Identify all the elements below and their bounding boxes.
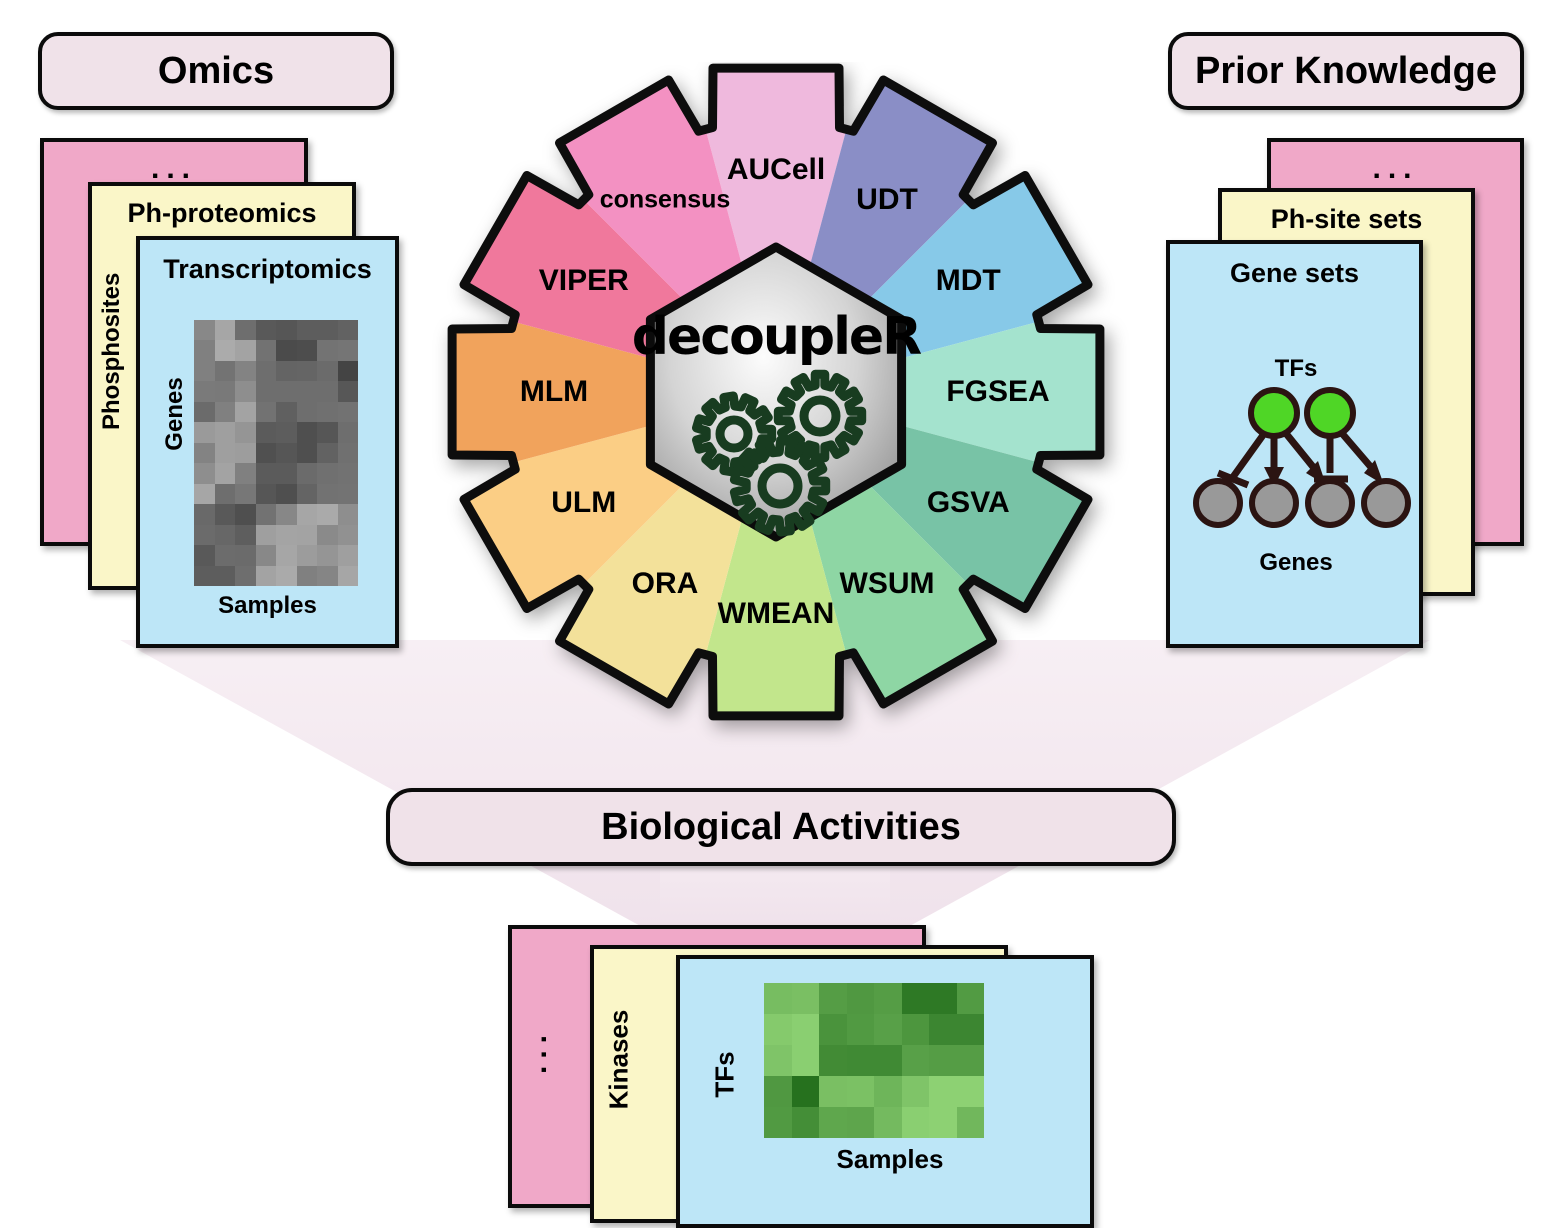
heatmap-cell [929,1045,957,1076]
gear-label-ora[interactable]: ORA [632,567,699,601]
heatmap-cell [902,1107,930,1138]
heatmap-cell [317,381,338,401]
heatmap-cell [338,504,359,524]
heatmap-cell [235,340,256,360]
heatmap-cell [215,422,236,442]
omics-sheet-phproteomics-label: Ph-proteomics [92,198,352,229]
heatmap-cell [764,1076,792,1107]
heatmap-cell [235,484,256,504]
heatmap-cell [256,484,277,504]
heatmap-cell [194,484,215,504]
heatmap-cell [317,402,338,422]
heatmap-cell [194,381,215,401]
heatmap-cell [276,545,297,565]
heatmap-cell [847,983,875,1014]
heatmap-cell [338,525,359,545]
tf-activity-heatmap [764,983,984,1138]
heatmap-cell [194,443,215,463]
heatmap-cell [338,422,359,442]
heatmap-cell [256,402,277,422]
heatmap-cell [194,422,215,442]
biological-activities-title-pill: Biological Activities [386,788,1176,866]
heatmap-cell [297,504,318,524]
heatmap-cell [297,545,318,565]
heatmap-cell [256,320,277,340]
heatmap-cell [215,463,236,483]
heatmap-cell [957,983,985,1014]
heatmap-cell [215,443,236,463]
heatmap-cell [215,545,236,565]
heatmap-cell [317,361,338,381]
heatmap-cell [764,983,792,1014]
heatmap-cell [215,361,236,381]
heatmap-cell [297,381,318,401]
heatmap-cell [235,402,256,422]
heatmap-cell [194,545,215,565]
heatmap-cell [317,320,338,340]
gear-label-viper[interactable]: VIPER [539,264,629,298]
tf-gene-network: TFs [1178,355,1414,585]
heatmap-cell [276,484,297,504]
heatmap-cell [194,320,215,340]
diagram-canvas: Omics ... Ph-proteomics Phosphosites Tra… [0,0,1551,1222]
gear-label-consensus[interactable]: consensus [600,185,731,214]
heatmap-cell [215,402,236,422]
gear-label-mdt[interactable]: MDT [936,264,1001,298]
gear-label-layer: AUCellUDTMDTFGSEAGSVAWSUMWMEANORAULMMLMV… [418,62,1134,762]
transcriptomics-heatmap [194,320,358,586]
gear-label-fgsea[interactable]: FGSEA [946,375,1049,409]
heatmap-cell [256,340,277,360]
heatmap-cell [235,361,256,381]
heatmap-cell [317,422,338,442]
heatmap-cell [792,1045,820,1076]
heatmap-cell [847,1076,875,1107]
output-axis-tfs: TFs [710,1040,741,1110]
heatmap-cell [297,525,318,545]
omics-axis-samples: Samples [140,592,395,620]
heatmap-cell [276,361,297,381]
heatmap-cell [338,463,359,483]
heatmap-cell [235,463,256,483]
heatmap-cell [874,1014,902,1045]
omics-title-pill: Omics [38,32,394,110]
heatmap-cell [256,361,277,381]
heatmap-cell [194,340,215,360]
heatmap-cell [819,1076,847,1107]
heatmap-cell [235,545,256,565]
biological-activities-title: Biological Activities [601,806,961,849]
heatmap-cell [235,443,256,463]
heatmap-cell [338,545,359,565]
heatmap-cell [256,443,277,463]
heatmap-cell [874,1107,902,1138]
heatmap-cell [338,402,359,422]
heatmap-cell [929,983,957,1014]
heatmap-cell [256,381,277,401]
heatmap-cell [847,1045,875,1076]
heatmap-cell [317,443,338,463]
heatmap-cell [338,443,359,463]
network-graph-svg [1178,381,1414,531]
heatmap-cell [874,1045,902,1076]
heatmap-cell [338,320,359,340]
heatmap-cell [764,1014,792,1045]
gear-label-mlm[interactable]: MLM [520,375,588,409]
heatmap-cell [297,402,318,422]
heatmap-cell [235,504,256,524]
heatmap-cell [792,1014,820,1045]
heatmap-cell [256,504,277,524]
heatmap-cell [215,525,236,545]
methods-gear-wheel: decoupleR AUCellUDTMDTFGSEAGSVAWSUMWMEAN… [418,62,1134,762]
heatmap-cell [297,422,318,442]
prior-knowledge-title: Prior Knowledge [1195,50,1497,93]
heatmap-cell [338,381,359,401]
output-sheet-tfs: TFs Samples [676,955,1094,1228]
heatmap-cell [819,1014,847,1045]
heatmap-cell [256,525,277,545]
heatmap-cell [235,320,256,340]
heatmap-cell [338,340,359,360]
network-genes-label: Genes [1178,549,1414,577]
output-axis-samples: Samples [740,1144,1040,1175]
heatmap-cell [215,484,236,504]
heatmap-cell [764,1107,792,1138]
gear-label-wsum[interactable]: WSUM [840,567,935,601]
heatmap-cell [256,566,277,586]
heatmap-cell [297,463,318,483]
heatmap-cell [792,1107,820,1138]
pk-sheet-phsite-label: Ph-site sets [1222,204,1471,235]
heatmap-cell [317,484,338,504]
heatmap-cell [929,1076,957,1107]
heatmap-cell [297,320,318,340]
heatmap-cell [317,545,338,565]
heatmap-cell [215,340,236,360]
heatmap-cell [338,484,359,504]
heatmap-cell [847,1014,875,1045]
heatmap-cell [235,525,256,545]
heatmap-cell [215,504,236,524]
heatmap-cell [276,463,297,483]
heatmap-cell [215,381,236,401]
heatmap-cell [276,525,297,545]
heatmap-cell [957,1014,985,1045]
heatmap-cell [256,463,277,483]
heatmap-cell [276,566,297,586]
omics-sheet-transcriptomics: Transcriptomics Genes Samples [136,236,399,648]
heatmap-cell [957,1107,985,1138]
pk-sheet-other-label: ... [1271,152,1520,186]
heatmap-cell [317,463,338,483]
prior-knowledge-title-pill: Prior Knowledge [1168,32,1524,110]
heatmap-cell [276,381,297,401]
heatmap-cell [276,504,297,524]
heatmap-cell [215,320,236,340]
heatmap-cell [957,1076,985,1107]
heatmap-cell [792,1076,820,1107]
heatmap-cell [874,983,902,1014]
omics-title: Omics [158,50,274,93]
heatmap-cell [276,402,297,422]
heatmap-cell [276,422,297,442]
heatmap-cell [338,361,359,381]
heatmap-cell [276,340,297,360]
heatmap-cell [194,463,215,483]
heatmap-cell [194,566,215,586]
heatmap-cell [902,1014,930,1045]
heatmap-cell [317,525,338,545]
heatmap-cell [297,443,318,463]
heatmap-cell [297,566,318,586]
heatmap-cell [194,504,215,524]
heatmap-cell [847,1107,875,1138]
gear-label-wmean[interactable]: WMEAN [718,597,835,631]
heatmap-cell [819,1045,847,1076]
omics-axis-phosphosites: Phosphosites [98,310,126,430]
heatmap-cell [338,566,359,586]
heatmap-cell [819,983,847,1014]
heatmap-cell [194,361,215,381]
heatmap-cell [235,566,256,586]
heatmap-cell [317,566,338,586]
omics-sheet-transcriptomics-label: Transcriptomics [140,254,395,285]
output-axis-kinases: Kinases [604,1010,635,1110]
heatmap-cell [256,545,277,565]
heatmap-cell [957,1045,985,1076]
heatmap-cell [317,340,338,360]
gear-label-aucell[interactable]: AUCell [727,153,825,187]
heatmap-cell [902,1045,930,1076]
heatmap-cell [235,422,256,442]
heatmap-cell [215,566,236,586]
heatmap-cell [902,983,930,1014]
heatmap-cell [256,422,277,442]
heatmap-cell [276,443,297,463]
heatmap-cell [317,504,338,524]
gear-label-gsva[interactable]: GSVA [927,486,1010,520]
pk-sheet-geneset-label: Gene sets [1170,258,1419,289]
omics-sheet-other-label: ... [44,152,304,186]
heatmap-cell [276,320,297,340]
heatmap-cell [929,1014,957,1045]
heatmap-cell [194,525,215,545]
heatmap-cell [792,983,820,1014]
heatmap-cell [297,340,318,360]
heatmap-cell [819,1107,847,1138]
gear-label-udt[interactable]: UDT [856,183,918,217]
heatmap-cell [902,1076,930,1107]
omics-axis-genes: Genes [161,359,189,469]
output-sheet-other-label: ... [520,1016,554,1086]
heatmap-cell [194,402,215,422]
network-tfs-label: TFs [1178,355,1414,383]
heatmap-cell [297,484,318,504]
gear-label-ulm[interactable]: ULM [551,486,616,520]
heatmap-cell [929,1107,957,1138]
heatmap-cell [235,381,256,401]
heatmap-cell [874,1076,902,1107]
heatmap-cell [764,1045,792,1076]
heatmap-cell [297,361,318,381]
